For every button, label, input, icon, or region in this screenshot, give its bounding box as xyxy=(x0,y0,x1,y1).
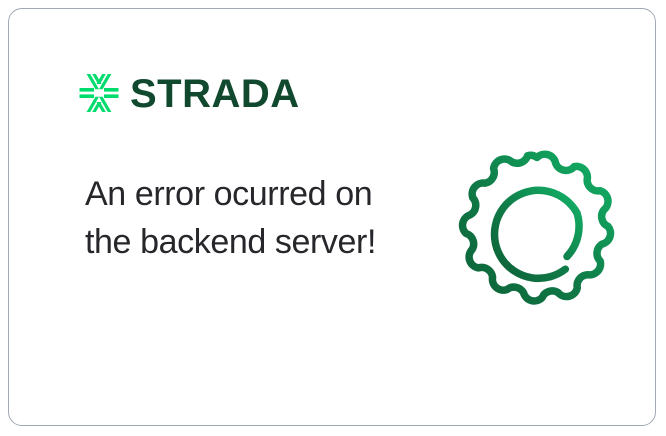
gear-illustration xyxy=(457,148,617,308)
error-card: STRADA An error ocurred on the backend s… xyxy=(8,8,656,426)
strada-asterisk-icon xyxy=(79,73,119,113)
gear-cog-icon xyxy=(457,148,617,308)
brand-wordmark: STRADA xyxy=(130,74,300,114)
error-message: An error ocurred on the backend server! xyxy=(85,170,385,266)
brand-logo: STRADA xyxy=(79,69,300,117)
